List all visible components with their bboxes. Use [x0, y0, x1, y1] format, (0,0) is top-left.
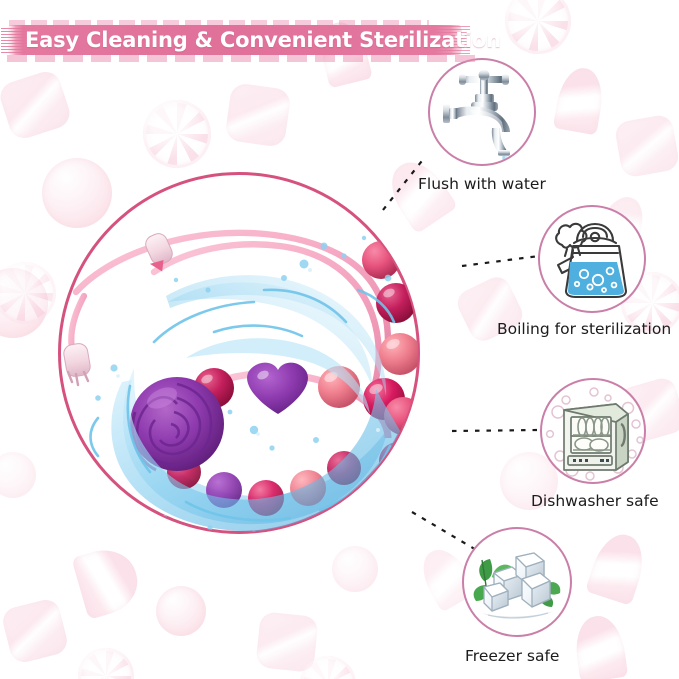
kettle-icon [540, 207, 646, 313]
connector-to-dishwasher [452, 430, 539, 431]
kettle-water [568, 262, 624, 295]
feature-icon-flush-with-water [428, 58, 536, 166]
faucet-icon [430, 60, 536, 166]
feature-label-freezer-safe: Freezer safe [465, 647, 559, 665]
feature-icon-boiling-for-sterilization [538, 205, 646, 313]
banner-wisp-bottom [7, 55, 477, 62]
ice-cubes-icon [464, 529, 572, 637]
title-banner: Easy Cleaning & Convenient Sterilization [7, 25, 462, 55]
page-title: Easy Cleaning & Convenient Sterilization [25, 25, 501, 55]
feature-label-dishwasher-safe: Dishwasher safe [531, 492, 659, 510]
connector-to-freezer [412, 512, 478, 551]
feature-label-boiling-for-sterilization: Boiling for sterilization [497, 320, 671, 338]
feature-icon-dishwasher-safe [540, 378, 646, 484]
product-infographic: Easy Cleaning & Convenient Sterilization [0, 0, 679, 679]
banner-fray-left [1, 27, 27, 53]
connector-to-kettle [462, 256, 539, 266]
feature-label-flush-with-water: Flush with water [418, 175, 546, 193]
feature-icon-freezer-safe [462, 527, 572, 637]
connector-lines [0, 0, 679, 679]
dishwasher-icon [542, 380, 646, 484]
